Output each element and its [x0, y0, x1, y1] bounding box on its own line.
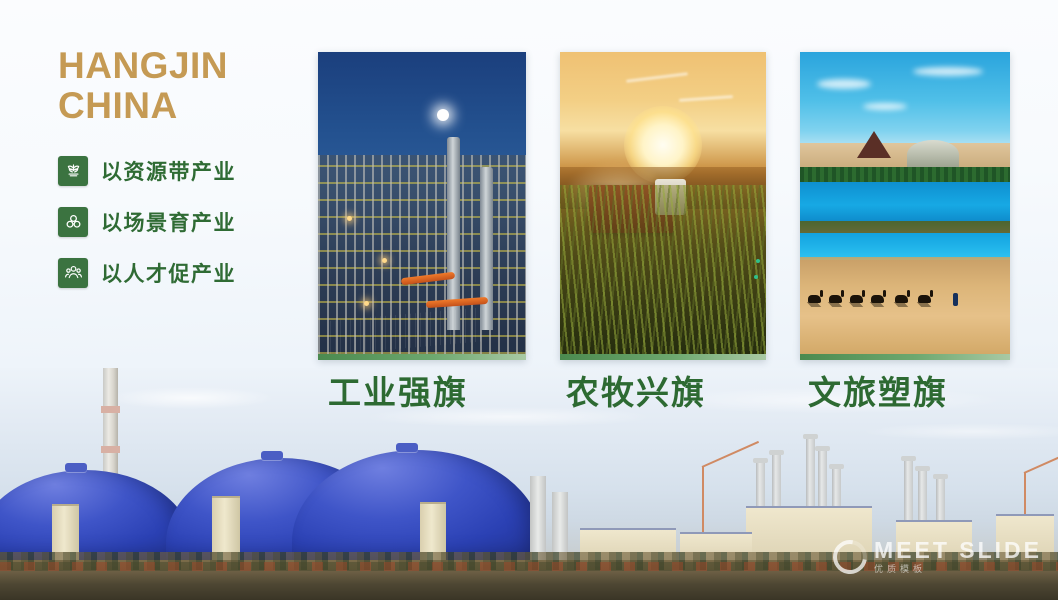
- camel-icon: [918, 295, 931, 303]
- person-icon: [953, 293, 958, 306]
- caption-row: 工业强旗 农牧兴旗 文旅塑旗: [318, 366, 1018, 412]
- photo-harvester-cornfield: [560, 52, 766, 354]
- photo-card-row: [318, 52, 1018, 410]
- card-accent-bar: [318, 354, 526, 360]
- photo-card-agriculture[interactable]: [560, 52, 766, 360]
- list-item[interactable]: 以场景育产业: [58, 207, 308, 237]
- photo-desert-lake-camels: [800, 52, 1010, 354]
- dome-building: [907, 140, 959, 169]
- leaf-icon: [58, 156, 88, 186]
- lens-dot: [754, 275, 758, 279]
- cornfield: [560, 185, 766, 354]
- photo-petrochemical-plant: [318, 52, 526, 354]
- list-item-label: 以人才促产业: [101, 258, 236, 288]
- photo-card-industry[interactable]: [318, 52, 526, 360]
- card-caption-agriculture: 农牧兴旗: [566, 366, 706, 414]
- camel-icon: [850, 295, 863, 303]
- list-item[interactable]: 以资源带产业: [58, 156, 308, 186]
- card-accent-bar: [800, 354, 1010, 360]
- distillation-column: [480, 167, 493, 330]
- sand-dune-foreground: [800, 260, 1010, 354]
- slide-canvas: HANGJIN CHINA 以资源带产业: [0, 0, 1058, 600]
- pyramid-building: [857, 131, 891, 158]
- circles-icon: [58, 207, 88, 237]
- cloud: [863, 103, 907, 110]
- refinery-complex: [560, 432, 1058, 562]
- list-item[interactable]: 以人才促产业: [58, 258, 308, 288]
- cloud-streak: [679, 95, 733, 102]
- list-item-label: 以场景育产业: [101, 207, 236, 237]
- people-icon: [58, 258, 88, 288]
- lake-upper: [800, 182, 1010, 224]
- camel-icon: [808, 295, 821, 303]
- headline-line-2: CHINA: [58, 86, 308, 126]
- camel-icon: [871, 295, 884, 303]
- cloud: [913, 67, 983, 76]
- bullet-list: 以资源带产业 以场景育产业: [58, 156, 308, 288]
- light-flare-icon: [437, 109, 449, 121]
- page-title: HANGJIN CHINA: [58, 46, 308, 126]
- card-accent-bar: [560, 354, 766, 360]
- card-caption-industry: 工业强旗: [328, 366, 468, 414]
- headline-line-1: HANGJIN: [58, 45, 228, 86]
- work-lamp-icon: [364, 301, 369, 306]
- camel-icon: [829, 295, 842, 303]
- cloud-streak: [626, 72, 688, 83]
- silo: [530, 476, 546, 562]
- foreground-ground: [0, 560, 1058, 600]
- camel-icon: [895, 295, 908, 303]
- list-item-label: 以资源带产业: [101, 156, 236, 186]
- card-caption-tourism: 文旅塑旗: [808, 366, 948, 414]
- cloud: [817, 79, 871, 89]
- left-text-panel: HANGJIN CHINA 以资源带产业: [58, 46, 308, 309]
- photo-card-tourism[interactable]: [800, 52, 1010, 360]
- lake-lower: [800, 233, 1010, 257]
